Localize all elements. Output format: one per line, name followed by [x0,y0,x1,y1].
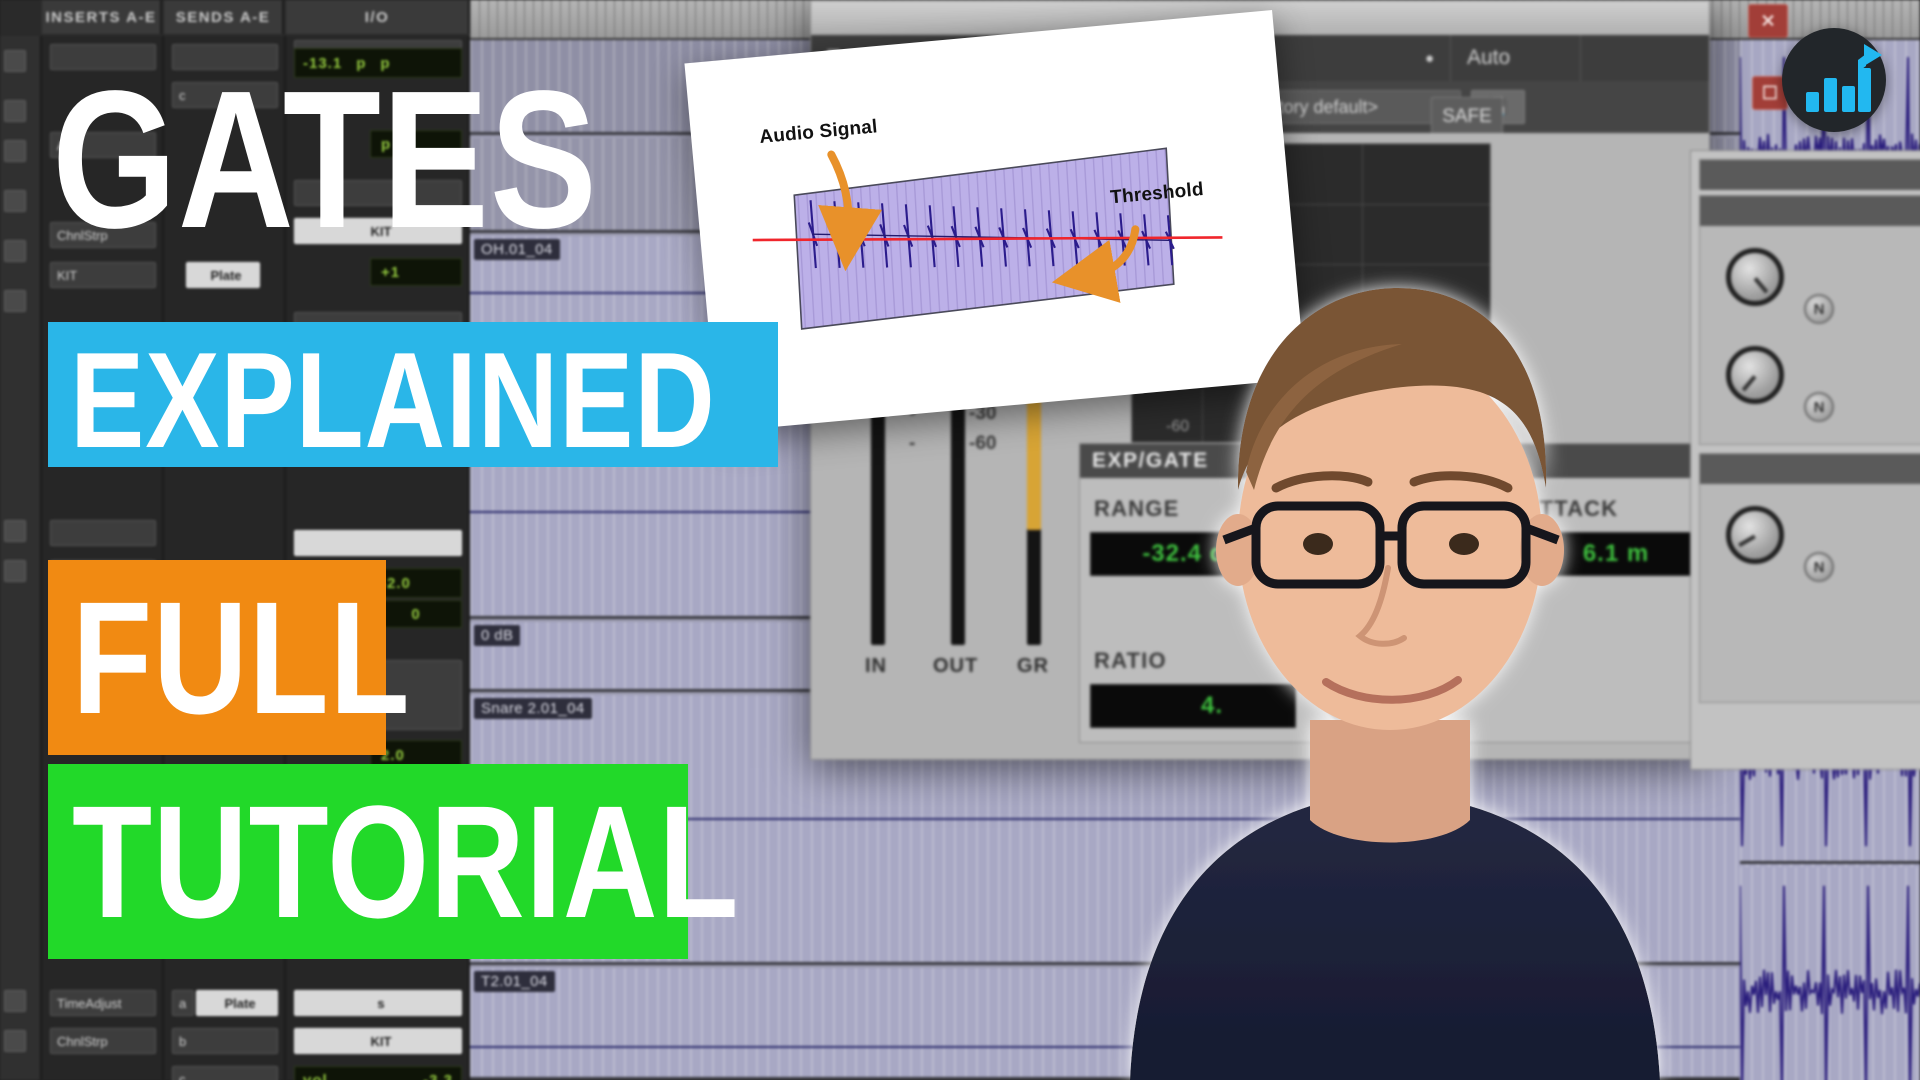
meter-label-out: OUT [933,655,978,678]
send-letter: a [172,990,194,1016]
row-toggle[interactable] [4,990,26,1012]
title-gates: GATES [52,62,598,258]
volume-label: vol [303,1072,328,1080]
insert-slot[interactable]: ChnlStrp [50,1028,156,1054]
clip-label[interactable]: 0 dB [474,625,520,646]
brand-logo[interactable] [1782,28,1886,132]
presenter-photo [1010,20,1750,1080]
volume-value: -3.3 [423,1072,453,1080]
insert-slot[interactable]: TimeAdjust [50,990,156,1016]
band-label-tutorial: TUTORIAL [72,782,739,942]
clip-label[interactable]: T2.01_04 [474,971,555,992]
row-toggle[interactable] [4,50,26,72]
row-toggle[interactable] [4,560,26,582]
band-label-explained: EXPLAINED [70,332,716,468]
thumbnail-canvas: /*ticks injected*/ OH.01_04 0 dB [0,0,1920,1080]
band-full: FULL [48,560,386,755]
track-lane[interactable] [1740,867,1920,1080]
column-header-inserts: INSERTS A-E [42,0,162,34]
meter-label-in: IN [865,655,887,678]
band-tutorial: TUTORIAL [48,764,688,959]
row-toggle[interactable] [4,100,26,122]
insert-slot[interactable] [50,520,156,546]
row-toggle[interactable] [4,240,26,262]
band-label-full: FULL [72,578,410,738]
column-header-sends: SENDS A-E [164,0,284,34]
column-header-io: I/O [286,0,470,34]
row-toggle[interactable] [4,290,26,312]
logo-bars-icon [1782,28,1886,132]
rack-n-button[interactable]: N [1804,552,1834,582]
row-toggle[interactable] [4,140,26,162]
row-toggle[interactable] [4,190,26,212]
meter-scale: -60 [969,433,996,455]
send-slot[interactable]: c [172,1066,278,1080]
volume-readout[interactable]: vol -3.3 [294,1066,462,1080]
row-toggle[interactable] [4,520,26,542]
band-explained: EXPLAINED [48,322,778,467]
io-slot[interactable]: s [294,990,462,1016]
row-toggle[interactable] [4,1030,26,1052]
clip-label[interactable]: Snare 2.01_04 [474,698,592,719]
io-slot[interactable] [294,530,462,556]
io-kit-slot[interactable]: KIT [294,1028,462,1054]
meter-dash: - [909,433,915,455]
rack-n-button[interactable]: N [1804,392,1834,422]
send-slot[interactable]: Plate [196,990,278,1016]
waveform [1740,867,1920,1080]
rack-n-button[interactable]: N [1804,294,1834,324]
send-slot[interactable]: b [172,1028,278,1054]
